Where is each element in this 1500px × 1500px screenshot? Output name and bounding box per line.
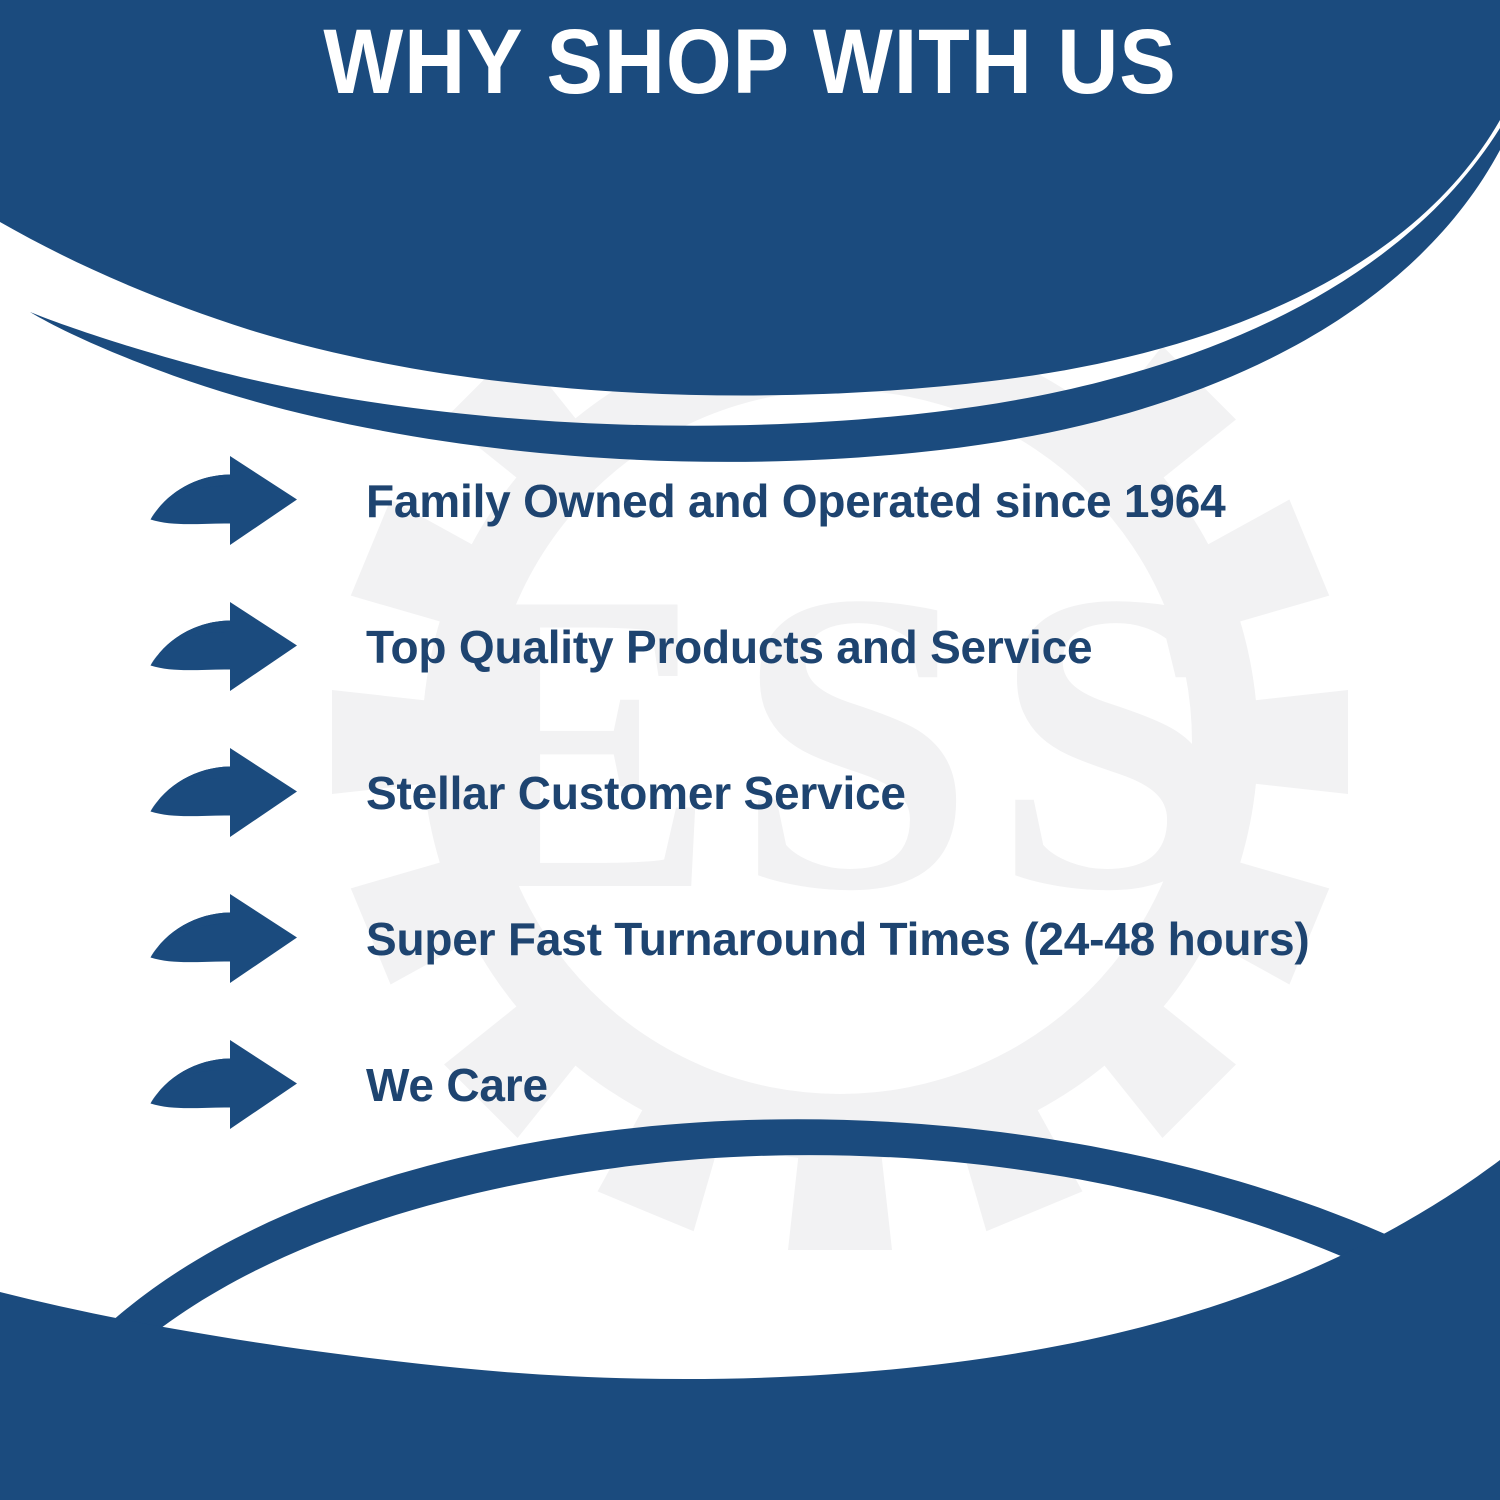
benefit-label: Super Fast Turnaround Times (24-48 hours… [366,914,1440,965]
list-item: Family Owned and Operated since 1964 [150,428,1440,574]
why-shop-with-us-poster: ESS WHY SHOP WITH US Family Owned and Op… [0,0,1500,1500]
benefits-list: Family Owned and Operated since 1964 Top… [150,428,1440,1158]
benefit-label: Family Owned and Operated since 1964 [366,476,1440,527]
list-item: Stellar Customer Service [150,720,1440,866]
curved-arrow-right-icon [150,601,298,693]
benefit-label: Stellar Customer Service [366,768,1440,819]
list-item: We Care [150,1012,1440,1158]
list-item: Top Quality Products and Service [150,574,1440,720]
curved-arrow-right-icon [150,747,298,839]
footer-blue-shape [0,1160,1500,1500]
curved-arrow-right-icon [150,455,298,547]
benefit-label: Top Quality Products and Service [366,622,1440,673]
curved-arrow-right-icon [150,1039,298,1131]
page-title: WHY SHOP WITH US [60,14,1440,111]
list-item: Super Fast Turnaround Times (24-48 hours… [150,866,1440,1012]
footer-ribbon-arc [30,1119,1500,1432]
benefit-label: We Care [366,1060,1440,1111]
curved-arrow-right-icon [150,893,298,985]
header-ribbon-arc [30,128,1500,462]
